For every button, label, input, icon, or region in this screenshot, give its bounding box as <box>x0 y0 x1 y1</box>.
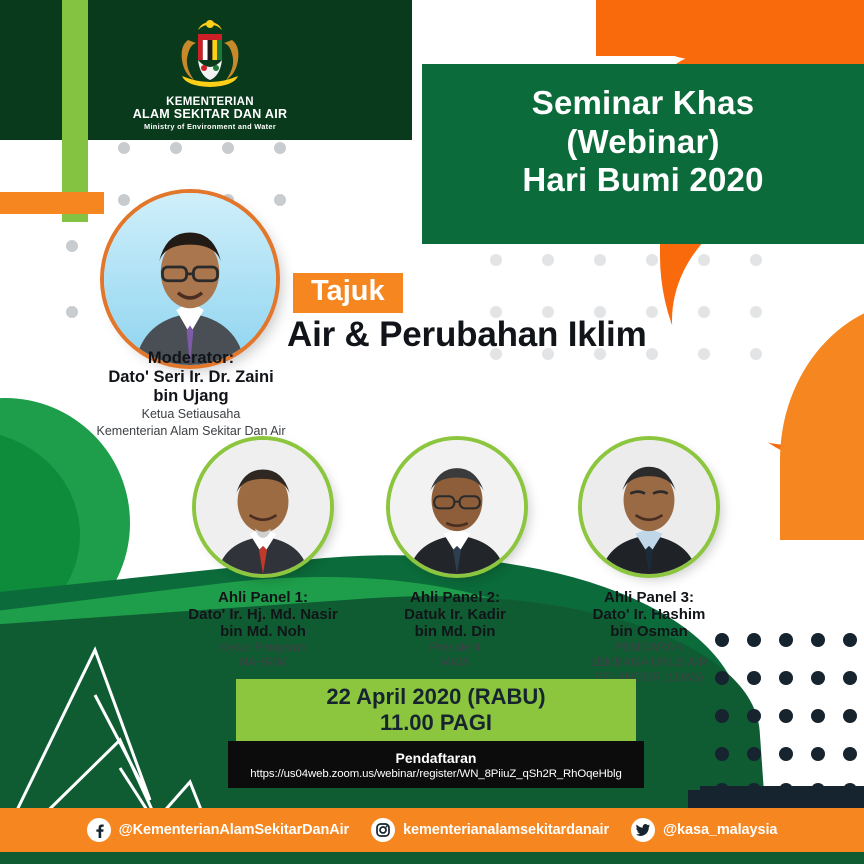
ministry-logo: KEMENTERIAN ALAM SEKITAR DAN AIR Ministr… <box>120 18 300 131</box>
topic-badge: Tajuk <box>293 273 403 313</box>
social-twitter[interactable]: @kasa_malaysia <box>631 818 777 842</box>
panelist-3-name-2: bin Osman <box>534 623 764 640</box>
moderator-role: Moderator: <box>55 349 327 368</box>
facebook-icon <box>87 818 111 842</box>
logo-line-2: ALAM SEKITAR DAN AIR <box>120 108 300 122</box>
panelist-2-avatar <box>390 440 524 574</box>
event-date: 22 April 2020 (RABU) <box>326 684 545 710</box>
panelist-3-caption: Ahli Panel 3: Dato' Ir. Hashim bin Osman… <box>534 589 764 684</box>
webinar-poster: KEMENTERIAN ALAM SEKITAR DAN AIR Ministr… <box>0 0 864 864</box>
instagram-icon <box>371 818 395 842</box>
title-line-2: (Webinar) <box>422 123 864 162</box>
panelist-3-avatar <box>582 440 716 574</box>
registration-banner: Pendaftaran https://us04web.zoom.us/webi… <box>228 741 644 788</box>
moderator-caption: Moderator: Dato' Seri Ir. Dr. Zaini bin … <box>55 349 327 438</box>
panelist-2-portrait <box>390 440 524 574</box>
title-line-3: Hari Bumi 2020 <box>422 161 864 200</box>
registration-label: Pendaftaran <box>396 750 477 766</box>
panelist-3-name-1: Dato' Ir. Hashim <box>534 606 764 623</box>
panelist-1-avatar <box>196 440 330 574</box>
social-footer: @KementerianAlamSekitarDanAir kementeria… <box>0 808 864 852</box>
moderator-portrait <box>104 193 276 365</box>
panelist-1-portrait <box>196 440 330 574</box>
registration-url[interactable]: https://us04web.zoom.us/webinar/register… <box>250 768 621 780</box>
accent-bar-orange-horizontal <box>0 192 104 214</box>
social-instagram[interactable]: kementerianalamsekitardanair <box>371 818 609 842</box>
panelist-3-portrait <box>582 440 716 574</box>
panelist-3-role: Ahli Panel 3: <box>534 589 764 606</box>
panelist-3-organisation: LEMBAGA URUS AIR <box>534 656 764 670</box>
moderator-avatar <box>104 193 276 365</box>
moderator-name-1: Dato' Seri Ir. Dr. Zaini <box>55 368 327 387</box>
event-time: 11.00 PAGI <box>380 710 492 736</box>
moderator-position: Ketua Setiausaha <box>55 407 327 421</box>
moderator-name-2: bin Ujang <box>55 387 327 406</box>
social-facebook[interactable]: @KementerianAlamSekitarDanAir <box>87 818 349 842</box>
logo-line-3: Ministry of Environment and Water <box>120 123 300 131</box>
twitter-icon <box>631 818 655 842</box>
accent-bar-green-vertical <box>62 0 88 222</box>
footer-bottom-edge <box>0 852 864 864</box>
schedule-banner: 22 April 2020 (RABU) 11.00 PAGI <box>236 679 636 741</box>
facebook-handle: @KementerianAlamSekitarDanAir <box>119 822 349 838</box>
topic-title: Air & Perubahan Iklim <box>287 315 647 355</box>
title-line-1: Seminar Khas <box>422 84 864 123</box>
page-title: Seminar Khas (Webinar) Hari Bumi 2020 <box>422 84 864 200</box>
twitter-handle: @kasa_malaysia <box>663 822 777 838</box>
panelist-3-position: PENGARAH <box>534 641 764 655</box>
malaysia-coat-of-arms-icon <box>158 18 262 96</box>
instagram-handle: kementerianalamsekitardanair <box>403 822 609 838</box>
moderator-organisation: Kementerian Alam Sekitar Dan Air <box>55 424 327 438</box>
